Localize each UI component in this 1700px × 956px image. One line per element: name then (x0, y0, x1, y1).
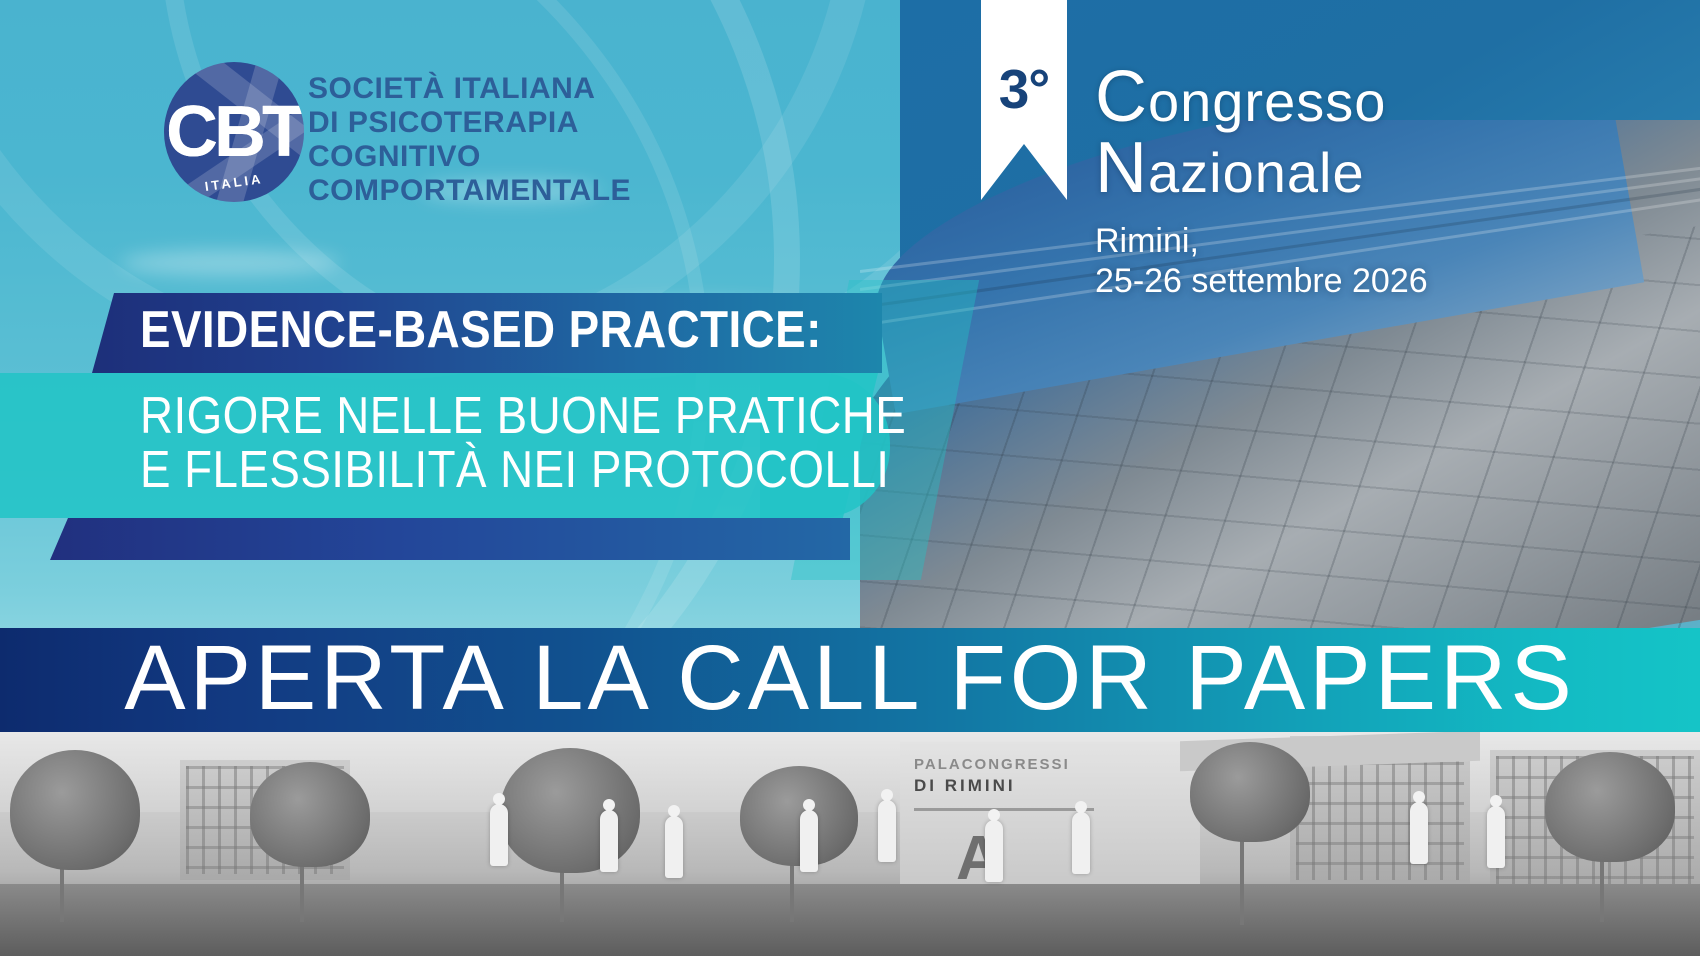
figure (1072, 812, 1090, 874)
figure (665, 816, 683, 878)
venue-sign-line-1: PALACONGRESSI (914, 756, 1070, 773)
congress-title-block: Congresso Nazionale Rimini, 25-26 settem… (1095, 62, 1615, 301)
headline-band-blue-strip (50, 518, 850, 560)
tree (740, 766, 858, 866)
tree (1190, 742, 1310, 842)
society-line-1: SOCIETÀ ITALIANA (308, 72, 928, 106)
congress-location-dates: Rimini, 25-26 settembre 2026 (1095, 221, 1615, 301)
headline-line-1: EVIDENCE-BASED PRACTICE: (140, 300, 822, 360)
figure (878, 800, 896, 862)
figure (600, 810, 618, 872)
figure (1410, 802, 1428, 864)
tree (1545, 752, 1675, 862)
tree (10, 750, 140, 870)
venue-photo-lower: PALACONGRESSI DI RIMINI A (0, 732, 1700, 956)
logo-circle: CBT ITALIA (164, 62, 304, 202)
tree (500, 748, 640, 873)
congress-edition-number: 3° (981, 62, 1067, 117)
call-for-papers-text: APERTA LA CALL FOR PAPERS (0, 618, 1700, 738)
headline-line-3: E FLESSIBILITÀ NEI PROTOCOLLI (140, 440, 889, 500)
congress-dates: 25-26 settembre 2026 (1095, 261, 1615, 301)
society-line-4: COMPORTAMENTALE (308, 174, 928, 208)
society-line-3: COGNITIVO (308, 140, 928, 174)
figure (800, 810, 818, 872)
figure (1487, 806, 1505, 868)
congress-title-line-2: Nazionale (1095, 133, 1615, 204)
figure (985, 820, 1003, 882)
tree (250, 762, 370, 867)
promo-banner: CBT ITALIA SOCIETÀ ITALIANA DI PSICOTERA… (0, 0, 1700, 956)
figure (490, 804, 508, 866)
society-name: SOCIETÀ ITALIANA DI PSICOTERAPIA COGNITI… (308, 72, 928, 208)
society-line-2: DI PSICOTERAPIA (308, 106, 928, 140)
ground-plane (0, 884, 1700, 956)
congress-location: Rimini, (1095, 221, 1615, 261)
cloud (120, 250, 340, 276)
headline-line-2: RIGORE NELLE BUONE PRATICHE (140, 386, 906, 446)
congress-title-line-1: Congresso (1095, 62, 1615, 133)
cbt-italia-logo: CBT ITALIA (164, 62, 304, 202)
venue-sign-line-2: DI RIMINI (914, 776, 1016, 796)
